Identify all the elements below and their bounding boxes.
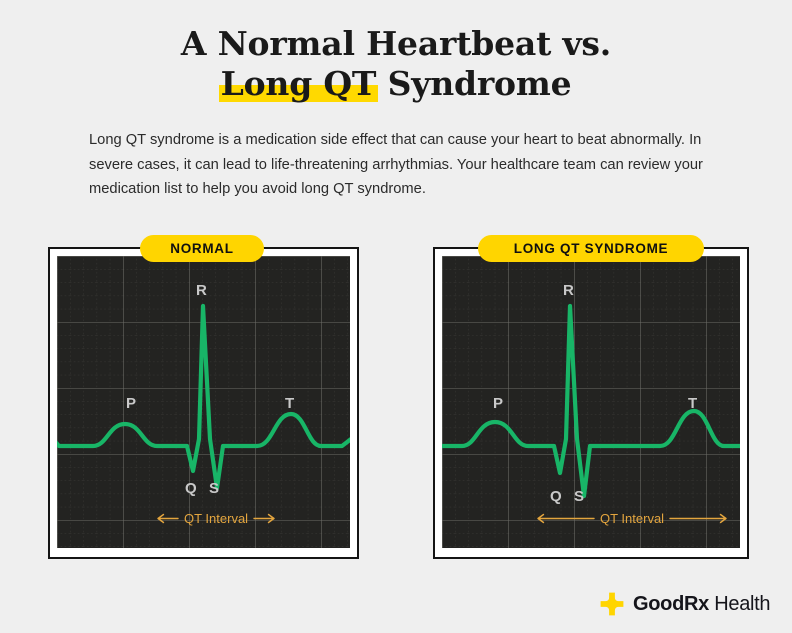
title-highlight: Long QT [221,64,377,104]
title-line-1: A Normal Heartbeat vs. [0,24,792,64]
wave-label-r-long-qt: R [563,282,574,299]
badge-long-qt: LONG QT SYNDROME [478,235,704,262]
qt-interval-annotation-long-qt: QT Interval [537,511,727,526]
intro-paragraph: Long QT syndrome is a medication side ef… [89,128,707,202]
ecg-trace-normal [57,256,350,548]
wave-label-t-long-qt: T [688,395,697,412]
wave-label-q-long-qt: Q [550,488,562,505]
wave-label-s-long-qt: S [574,488,584,505]
wave-label-r-normal: R [196,282,207,299]
logo-text-thin: Health [709,593,770,615]
arrow-left-icon [537,513,595,524]
ecg-panel-long-qt: P R Q S T QT Interval [433,247,749,559]
arrow-left-icon [157,513,179,524]
goodrx-health-logo: GoodRx Health [600,592,770,616]
arrow-right-icon [669,513,727,524]
logo-text-bold: GoodRx [633,593,709,615]
qt-interval-label-normal: QT Interval [182,511,250,526]
logo-text: GoodRx Health [633,593,770,616]
wave-label-q-normal: Q [185,480,197,497]
wave-label-t-normal: T [285,395,294,412]
qt-interval-annotation-normal: QT Interval [157,511,275,526]
wave-label-p-normal: P [126,395,136,412]
goodrx-cross-icon [600,592,624,616]
wave-label-p-long-qt: P [493,395,503,412]
title-line-2-rest: Syndrome [376,64,571,103]
wave-label-s-normal: S [209,480,219,497]
page-title: A Normal Heartbeat vs. Long QT Syndrome [0,24,792,104]
panel-plot-long-qt: P R Q S T QT Interval [442,256,740,548]
badge-normal: NORMAL [140,235,264,262]
panel-plot-normal: P R Q S T QT Interval [57,256,350,548]
qt-interval-label-long-qt: QT Interval [598,511,666,526]
title-line-2: Long QT Syndrome [0,64,792,104]
arrow-right-icon [253,513,275,524]
ecg-panel-normal: P R Q S T QT Interval [48,247,359,559]
